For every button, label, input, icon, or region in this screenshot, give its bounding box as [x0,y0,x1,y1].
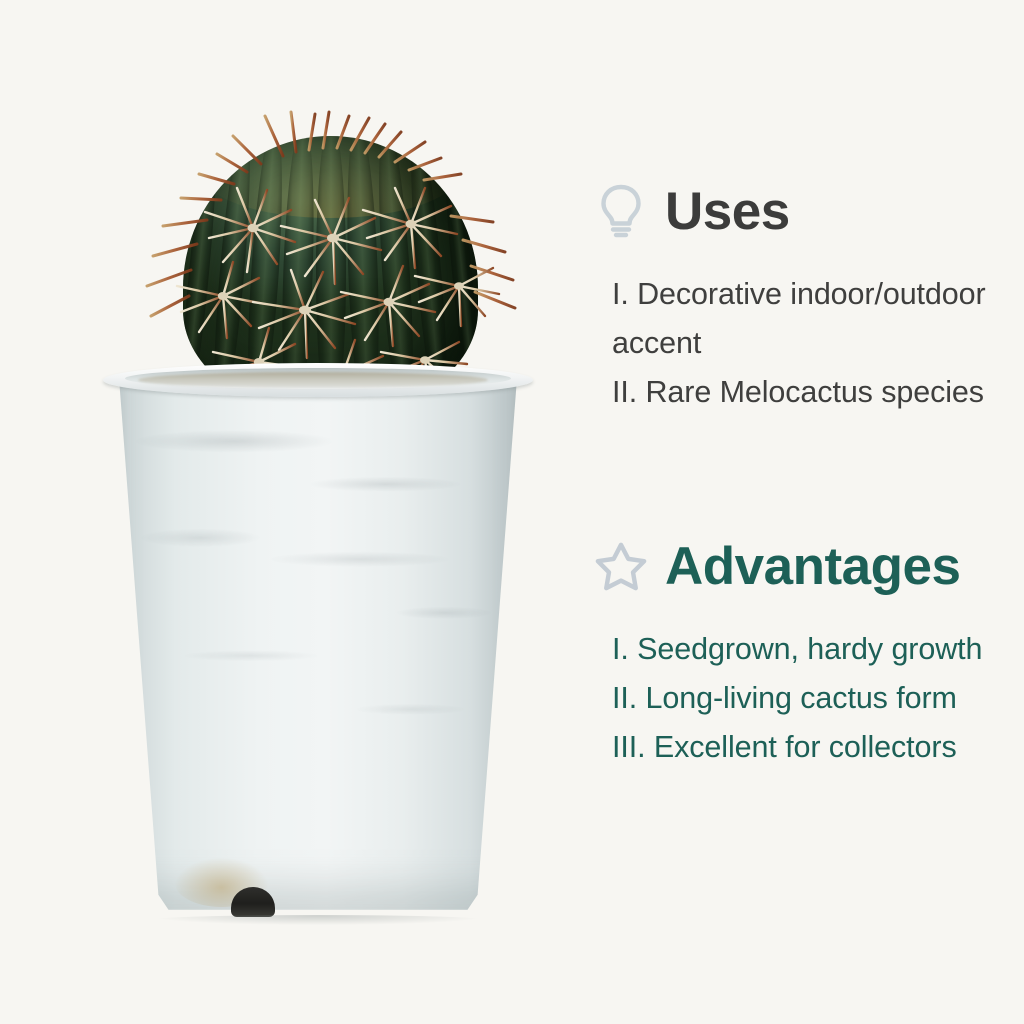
plant-pot [98,363,538,923]
section-uses-header: Uses [560,172,1024,250]
pot-texture [108,377,528,913]
plant-info-card: Uses I. Decorative indoor/outdoor accent… [0,0,1024,1024]
star-icon [595,537,647,595]
plant-info-pane: Uses I. Decorative indoor/outdoor accent… [560,0,1024,1024]
section-advantages-header: Advantages [560,527,1024,605]
list-item: I. Seedgrown, hardy growth [612,625,1014,674]
list-item: II. Rare Melocactus species [612,368,1014,417]
list-item: III. Excellent for collectors [612,723,1014,772]
plant-photo-pane [0,0,560,1024]
section-advantages: Advantages I. Seedgrown, hardy growth II… [560,527,1024,772]
pot-body [108,377,528,913]
section-uses-list: I. Decorative indoor/outdoor accent II. … [560,270,1024,417]
section-uses-title: Uses [665,185,790,238]
pot-soil [138,372,488,388]
potted-cactus-image [95,110,555,930]
list-item: II. Long-living cactus form [612,674,1014,723]
section-advantages-list: I. Seedgrown, hardy growth II. Long-livi… [560,625,1024,772]
pot-base-shadow [151,915,485,925]
section-uses: Uses I. Decorative indoor/outdoor accent… [560,172,1024,417]
list-item: I. Decorative indoor/outdoor accent [612,270,1014,368]
lightbulb-icon [595,182,647,240]
section-advantages-title: Advantages [665,540,960,593]
